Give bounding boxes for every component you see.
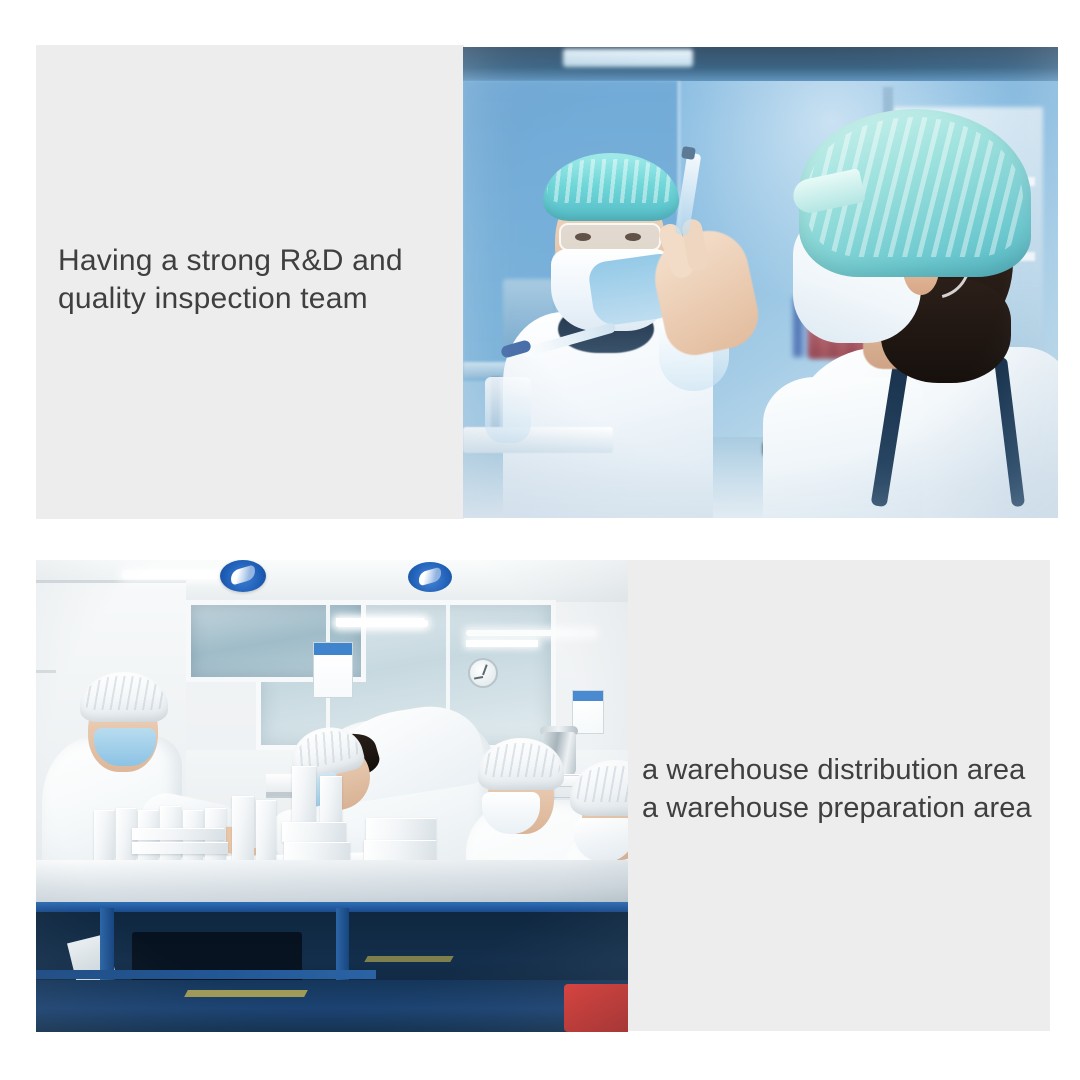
warehouse-vignette bbox=[36, 560, 628, 1032]
warehouse-caption-text: a warehouse distribution area a warehous… bbox=[642, 752, 1042, 827]
lab-soft-glow bbox=[463, 47, 1058, 518]
rnd-lab-photo bbox=[463, 47, 1058, 518]
warehouse-scene bbox=[36, 560, 628, 1032]
product-feature-page: Having a strong R&D and quality inspecti… bbox=[0, 0, 1080, 1080]
rnd-lab-scene bbox=[463, 47, 1058, 518]
rnd-caption-text: Having a strong R&D and quality inspecti… bbox=[58, 242, 448, 319]
warehouse-photo bbox=[36, 560, 628, 1032]
